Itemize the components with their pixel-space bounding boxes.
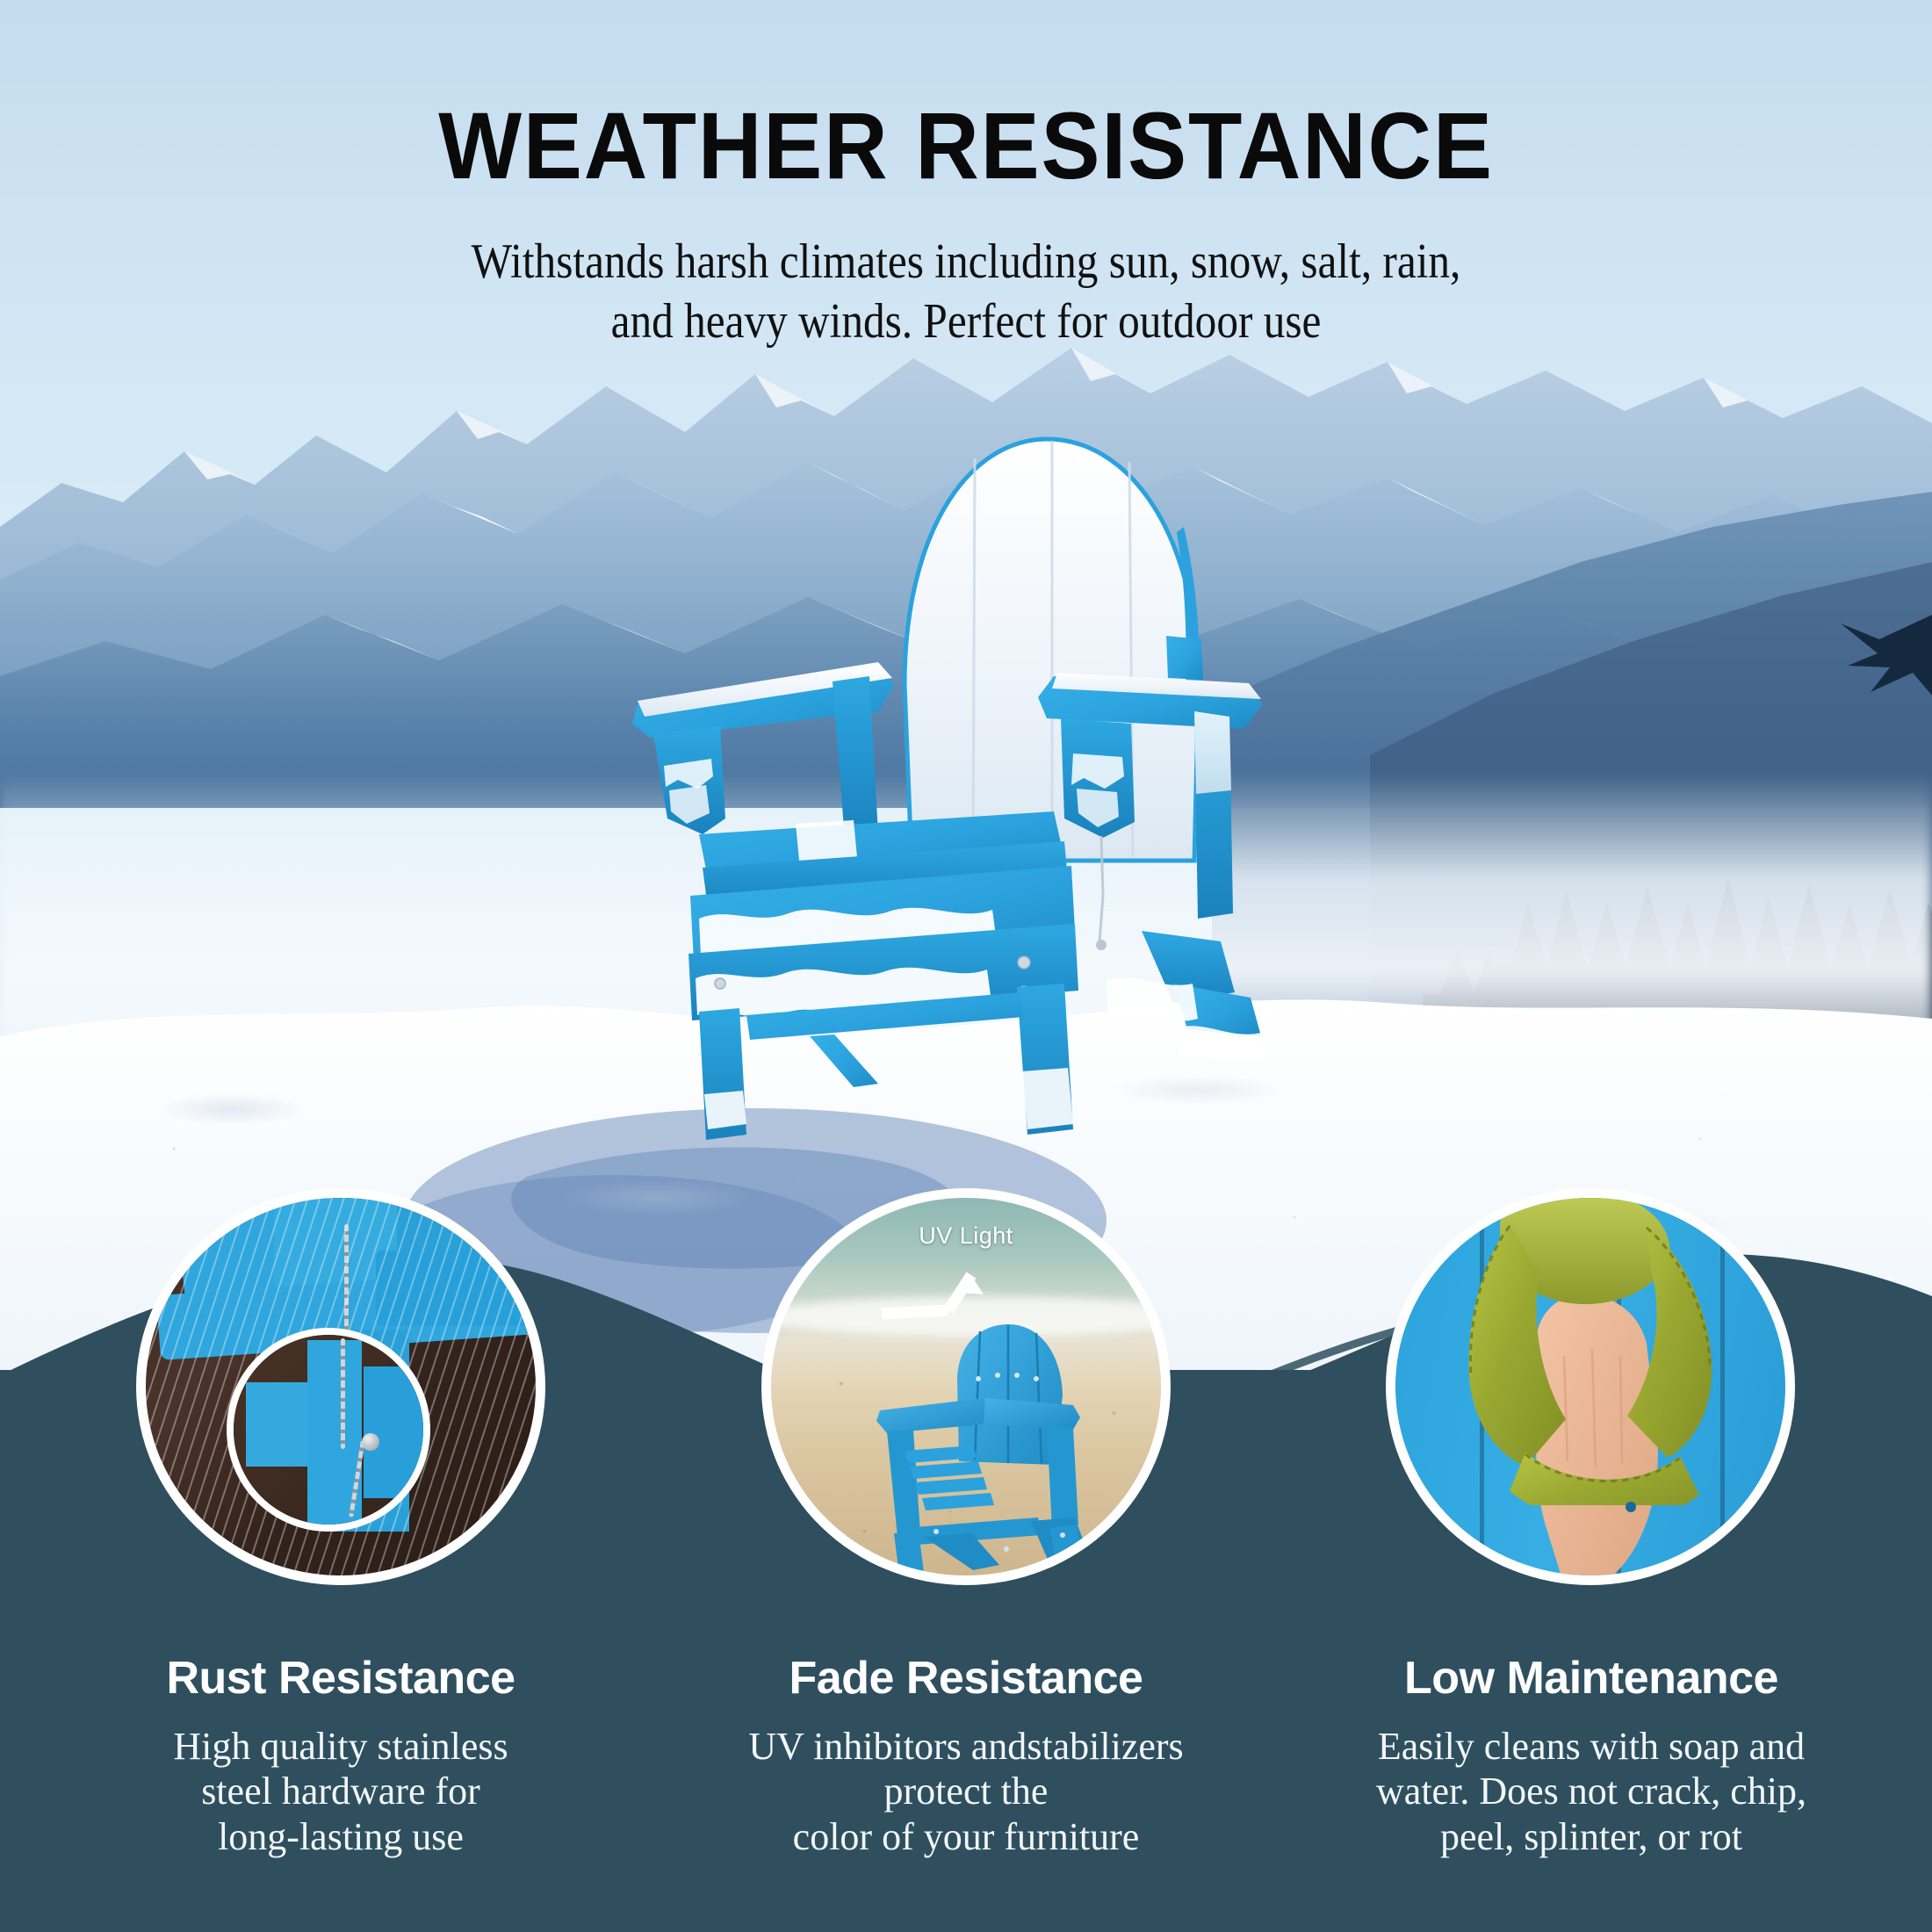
feature-description-fade-resistance: UV inhibitors andstabilizers protect the…	[720, 1724, 1212, 1859]
inset-chain	[341, 1338, 345, 1449]
desc-line: High quality stainless	[173, 1725, 508, 1768]
desc-line: steel hardware for	[201, 1770, 480, 1813]
desc-line: UV inhibitors andstabilizers	[748, 1725, 1183, 1768]
feature-text-low-maintenance: Low Maintenance Easily cleans with soap …	[1345, 1655, 1837, 1859]
page-subtitle: Withstands harsh climates including sun,…	[116, 193, 1816, 352]
chain-detail-inset[interactable]	[227, 1328, 430, 1532]
page-title: WEATHER RESISTANCE	[68, 0, 1864, 193]
inset-plank-right	[364, 1366, 429, 1498]
desc-line: protect the	[884, 1770, 1049, 1813]
feature-text-fade-resistance: Fade Resistance UV inhibitors andstabili…	[720, 1655, 1212, 1859]
subtitle-line-1: Withstands harsh climates including sun,…	[472, 234, 1461, 289]
feature-title-rust-resistance: Rust Resistance	[95, 1655, 587, 1701]
desc-line: peel, splinter, or rot	[1440, 1815, 1742, 1858]
chain-bolt	[362, 1433, 379, 1451]
feature-text-rust-resistance: Rust Resistance High quality stainless s…	[95, 1655, 587, 1859]
microfiber-cloth-graphic	[1417, 1189, 1785, 1505]
beach-chair-graphic	[875, 1314, 1138, 1582]
surface-screw	[1626, 1502, 1636, 1512]
feature-title-low-maintenance: Low Maintenance	[1345, 1655, 1837, 1701]
feature-description-low-maintenance: Easily cleans with soap and water. Does …	[1345, 1724, 1837, 1859]
desc-line: long-lasting use	[218, 1815, 464, 1858]
feature-title-fade-resistance: Fade Resistance	[720, 1655, 1212, 1701]
desc-line: water. Does not crack, chip,	[1376, 1770, 1806, 1813]
desc-line: color of your furniture	[793, 1815, 1140, 1858]
header-block: WEATHER RESISTANCE Withstands harsh clim…	[0, 0, 1932, 352]
infographic-canvas: WEATHER RESISTANCE Withstands harsh clim…	[0, 0, 1932, 1932]
uv-light-label: UV Light	[771, 1222, 1161, 1250]
feature-image-rust-resistance[interactable]	[136, 1188, 545, 1585]
hero-product-chair	[615, 422, 1335, 1142]
subtitle-line-2: and heavy winds. Perfect for outdoor use	[611, 294, 1322, 349]
feature-description-rust-resistance: High quality stainless steel hardware fo…	[95, 1724, 587, 1859]
feature-image-fade-resistance[interactable]: UV Light	[761, 1188, 1171, 1585]
feature-image-low-maintenance[interactable]	[1386, 1188, 1795, 1585]
desc-line: Easily cleans with soap and	[1378, 1725, 1805, 1768]
